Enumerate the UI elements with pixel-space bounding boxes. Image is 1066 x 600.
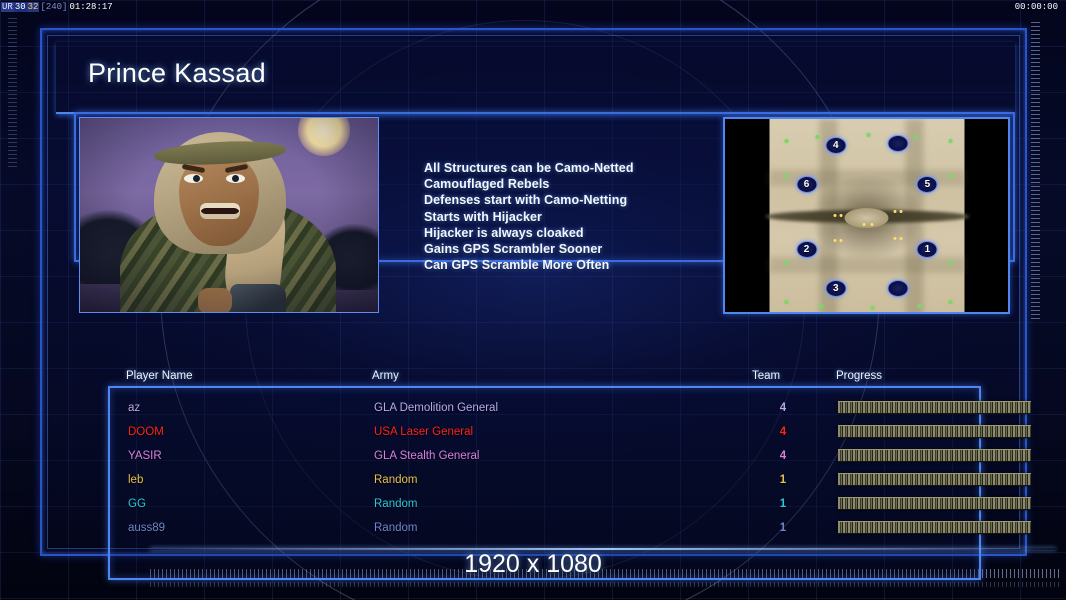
player-team: 4 (772, 420, 794, 444)
map-resource-dot (948, 300, 952, 304)
resolution-bar: 1920 x 1080 (0, 548, 1066, 586)
player-progress-bar (838, 521, 1031, 534)
column-header-team: Team (752, 370, 780, 382)
player-team: 1 (772, 468, 794, 492)
map-resource-dot (948, 139, 952, 143)
map-start-position-2: 2 (796, 241, 817, 258)
ability-line: Camouflaged Rebels (424, 176, 724, 192)
player-progress-bar (838, 425, 1031, 438)
table-row[interactable]: lebRandom1 (110, 468, 983, 492)
map-supply-dot (900, 237, 903, 240)
player-team: 4 (772, 444, 794, 468)
player-army: Random (374, 516, 417, 540)
map-resource-dot (785, 300, 789, 304)
player-army: GLA Stealth General (374, 444, 479, 468)
map-supply-dot (839, 239, 842, 242)
portrait-vignette (80, 118, 378, 312)
hud-bracket-value: [240] (39, 2, 68, 12)
ruler-strip-left (8, 18, 17, 168)
map-start-position-5: 5 (917, 176, 938, 193)
map-supply-dot (839, 214, 842, 217)
table-row[interactable]: GGRandom1 (110, 492, 983, 516)
hud-right-clock: 00:00:00 (1015, 0, 1058, 14)
player-army: Random (374, 492, 417, 516)
map-start-position-3: 3 (825, 280, 846, 297)
map-supply-dot (894, 237, 897, 240)
map-preview-image: 465213 (769, 119, 964, 314)
map-resource-dot (785, 139, 789, 143)
player-name: GG (128, 492, 146, 516)
player-army: Random (374, 468, 417, 492)
ability-line: All Structures can be Camo-Netted (424, 160, 724, 176)
column-header-player-name: Player Name (126, 370, 192, 382)
map-resource-dot (816, 135, 820, 139)
hud-number-1: 30 (14, 2, 27, 12)
hud-elapsed-time: 01:28:17 (68, 2, 113, 12)
player-progress-bar (838, 497, 1031, 510)
player-name: leb (128, 468, 143, 492)
title-band: Prince Kassad (56, 42, 1015, 114)
map-start-position (888, 135, 909, 152)
player-team: 4 (772, 396, 794, 420)
player-progress-bar (838, 449, 1031, 462)
table-row[interactable]: azGLA Demolition General4 (110, 396, 983, 420)
map-resource-dot (785, 261, 789, 265)
portrait-image (80, 118, 378, 312)
ability-line: Defenses start with Camo-Netting (424, 192, 724, 208)
player-progress-bar (838, 473, 1031, 486)
player-name: auss89 (128, 516, 165, 540)
map-resource-dot (870, 306, 874, 310)
player-table-header: Player Name Army Team Progress (126, 370, 1031, 386)
map-path-h2 (769, 257, 964, 273)
ability-line: Hijacker is always cloaked (424, 225, 724, 241)
map-preview: 465213 (723, 117, 1010, 314)
hud-left-group: UR3032[240]01:28:17 (1, 0, 114, 14)
hud-ur-label: UR (1, 2, 14, 12)
hud-status-bar: UR3032[240]01:28:17 00:00:00 (0, 0, 1066, 14)
player-team: 1 (772, 516, 794, 540)
player-progress-bar (838, 401, 1031, 414)
hud-number-2: 32 (27, 2, 40, 12)
resolution-label: 1920 x 1080 (0, 550, 1066, 579)
player-army: USA Laser General (374, 420, 473, 444)
player-team: 1 (772, 492, 794, 516)
map-supply-dot (900, 210, 903, 213)
player-name: az (128, 396, 140, 420)
map-center-feature (845, 208, 889, 228)
map-resource-dot (867, 133, 871, 137)
ability-line: Starts with Hijacker (424, 209, 724, 225)
general-portrait (79, 117, 379, 313)
map-start-position-4: 4 (825, 137, 846, 154)
player-name: YASIR (128, 444, 162, 468)
player-name: DOOM (128, 420, 164, 444)
map-supply-dot (894, 210, 897, 213)
column-header-army: Army (372, 370, 399, 382)
map-resource-dot (785, 174, 789, 178)
map-start-position-1: 1 (917, 241, 938, 258)
map-start-position-6: 6 (796, 176, 817, 193)
ability-line: Gains GPS Scrambler Sooner (424, 241, 724, 257)
table-row[interactable]: YASIRGLA Stealth General4 (110, 444, 983, 468)
column-header-progress: Progress (836, 370, 882, 382)
table-row[interactable]: auss89Random1 (110, 516, 983, 540)
main-window-frame: Prince Kassad (40, 28, 1027, 556)
page-title: Prince Kassad (88, 58, 266, 89)
map-resource-dot (820, 304, 824, 308)
table-row[interactable]: DOOMUSA Laser General4 (110, 420, 983, 444)
ability-line: Can GPS Scramble More Often (424, 257, 724, 273)
general-info-panel: All Structures can be Camo-Netted Camouf… (74, 112, 1015, 262)
player-army: GLA Demolition General (374, 396, 498, 420)
general-ability-list: All Structures can be Camo-Netted Camouf… (424, 160, 724, 273)
ruler-strip-right (1031, 22, 1040, 322)
